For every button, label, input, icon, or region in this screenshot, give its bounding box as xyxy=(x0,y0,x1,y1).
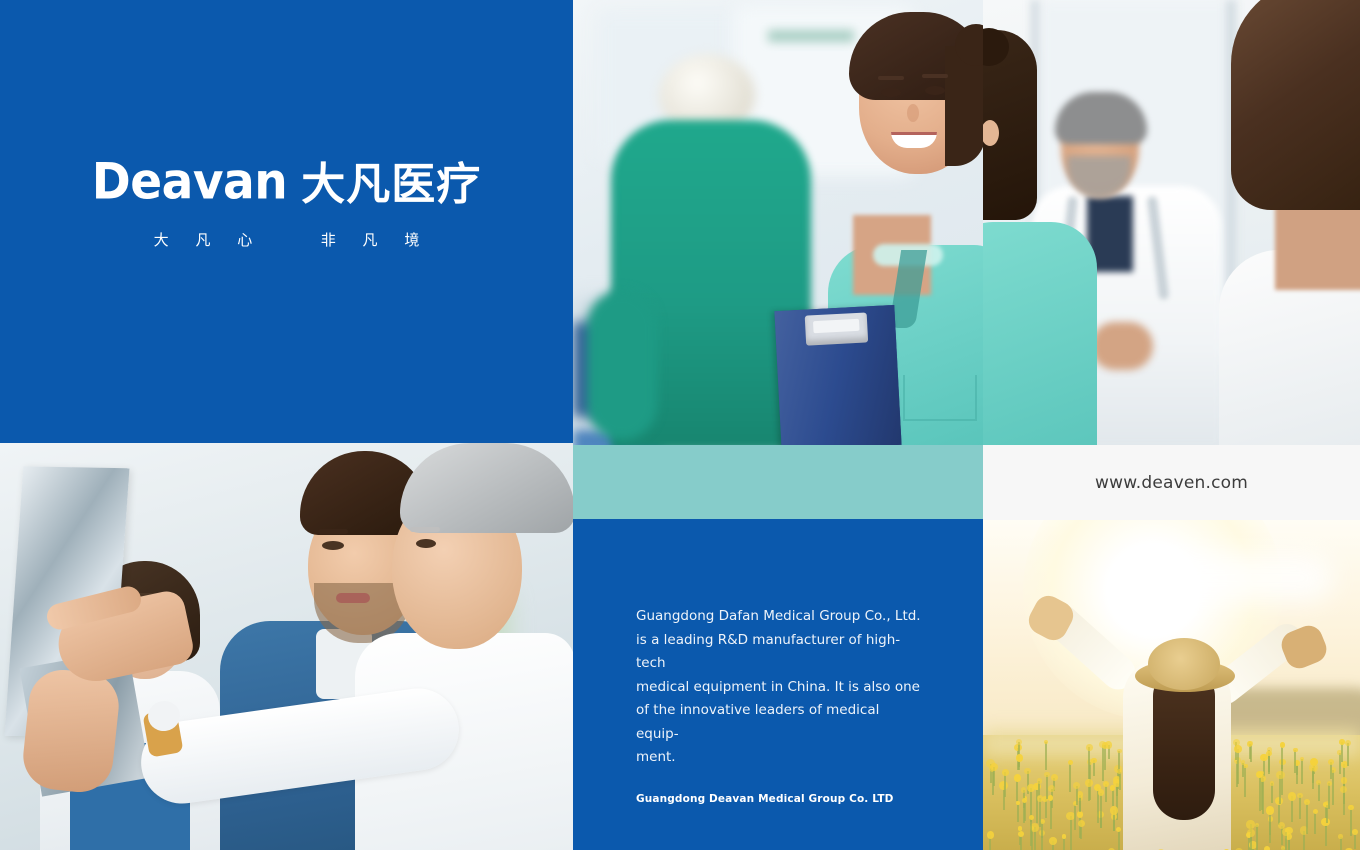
description-line-4: of the innovative leaders of medical equ… xyxy=(636,699,926,746)
young-doctor-eyebrow xyxy=(318,529,348,534)
tagline-left: 大 凡 心 xyxy=(154,231,264,249)
xray-review-photo xyxy=(0,443,573,850)
young-doctor-mouth xyxy=(336,593,370,603)
foreground-person-hair xyxy=(1231,0,1360,210)
company-description-panel: Guangdong Dafan Medical Group Co., Ltd. … xyxy=(573,519,983,850)
nurse-eyebrow-left xyxy=(878,76,904,80)
description-line-5: ment. xyxy=(636,746,926,770)
company-legal-name: Guangdong Deavan Medical Group Co. LTD xyxy=(636,793,956,805)
tagline-right: 非 凡 境 xyxy=(321,231,431,249)
brochure-page: Deavan 大凡医疗 大 凡 心 非 凡 境 xyxy=(0,0,1360,850)
description-line-3: medical equipment in China. It is also o… xyxy=(636,676,926,700)
nurse-eye-left xyxy=(881,88,901,97)
senior-doctor-eye xyxy=(416,539,436,548)
description-line-2: is a leading R&D manufacturer of high-te… xyxy=(636,629,926,676)
clipboard xyxy=(774,305,901,445)
company-description-text: Guangdong Dafan Medical Group Co., Ltd. … xyxy=(636,605,926,770)
holding-hand xyxy=(20,667,122,796)
straw-hat-crown xyxy=(1148,638,1220,690)
clipboard-clip-highlight xyxy=(813,319,860,333)
logo-chinese-name: 大凡医疗 xyxy=(301,163,481,207)
nurse-eyebrow-right xyxy=(922,74,948,78)
senior-doctor-eyebrow xyxy=(410,527,440,532)
sunset-field-photo xyxy=(983,520,1360,850)
poster-text-blur xyxy=(768,30,854,42)
brand-panel: Deavan 大凡医疗 大 凡 心 非 凡 境 xyxy=(0,0,573,443)
background-nurse-arm xyxy=(587,290,657,440)
cloud xyxy=(1163,554,1333,602)
description-line-1: Guangdong Dafan Medical Group Co., Ltd. xyxy=(636,605,926,629)
consultation-photo xyxy=(983,0,1360,445)
woman-hair xyxy=(1153,670,1215,820)
nurse-eye-right xyxy=(925,86,945,95)
left-nurse-scrubs xyxy=(983,222,1097,445)
logo-wordmark: Deavan xyxy=(92,157,287,207)
nurse-chest-pocket xyxy=(903,375,977,421)
brand-tagline: 大 凡 心 非 凡 境 xyxy=(0,229,573,250)
logo-block: Deavan 大凡医疗 大 凡 心 非 凡 境 xyxy=(0,160,573,250)
website-panel: www.deaven.com xyxy=(983,445,1360,520)
logo-lockup: Deavan 大凡医疗 xyxy=(0,160,573,207)
doctor-hands xyxy=(1091,322,1153,370)
teal-divider-band xyxy=(573,445,983,519)
young-doctor-eye xyxy=(322,541,344,550)
website-url[interactable]: www.deaven.com xyxy=(1095,473,1248,493)
nurse-photo xyxy=(573,0,983,445)
nurse-nose xyxy=(907,104,919,122)
